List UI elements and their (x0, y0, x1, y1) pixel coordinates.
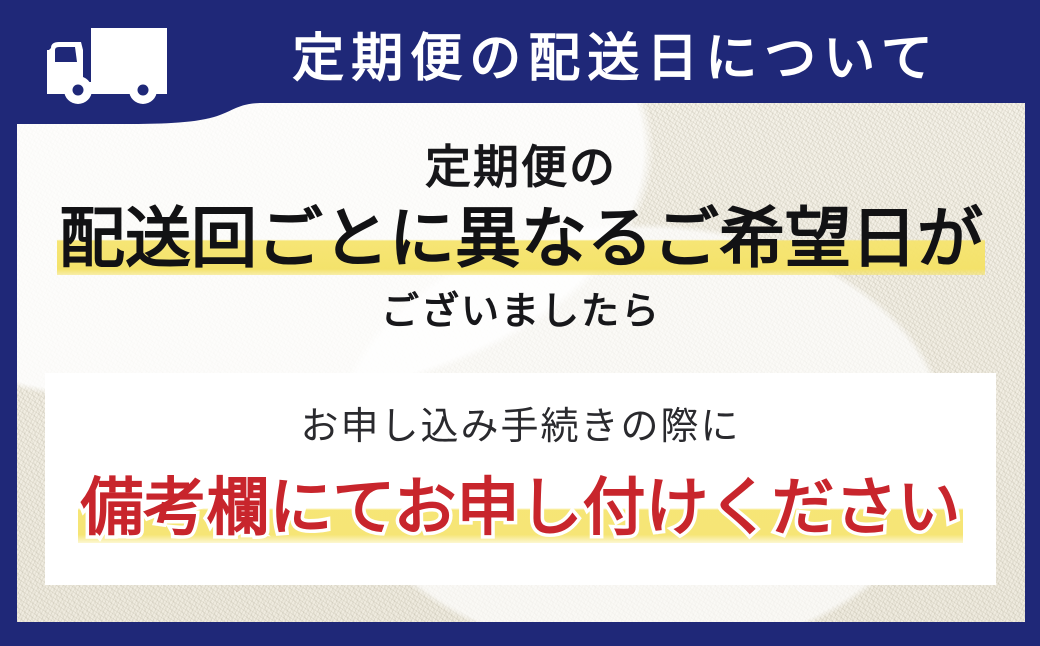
card-headline: 備考欄にてお申し付けください (45, 471, 996, 547)
body-tail-line: ございましたら (17, 290, 1025, 336)
body-lead-line: 定期便の (17, 140, 1025, 194)
delivery-truck-icon (33, 24, 171, 108)
body-emphasis-line: 配送回ごとに異なるご希望日が (17, 200, 1025, 278)
card-headline-highlight: 備考欄にてお申し付けください (78, 473, 962, 543)
card-subtitle: お申し込み手続きの際に (45, 405, 996, 451)
delivery-schedule-banner: 定期便の配送日について 定期便の 配送回ごとに異なるご希望日が ございましたら … (0, 0, 1040, 646)
body-emphasis-highlight: 配送回ごとに異なるご希望日が (57, 201, 985, 275)
page-title: 定期便の配送日について (206, 16, 1026, 104)
instruction-card: お申し込み手続きの際に 備考欄にてお申し付けください (45, 373, 996, 585)
banner-body: 定期便の 配送回ごとに異なるご希望日が ございましたら (17, 124, 1025, 374)
